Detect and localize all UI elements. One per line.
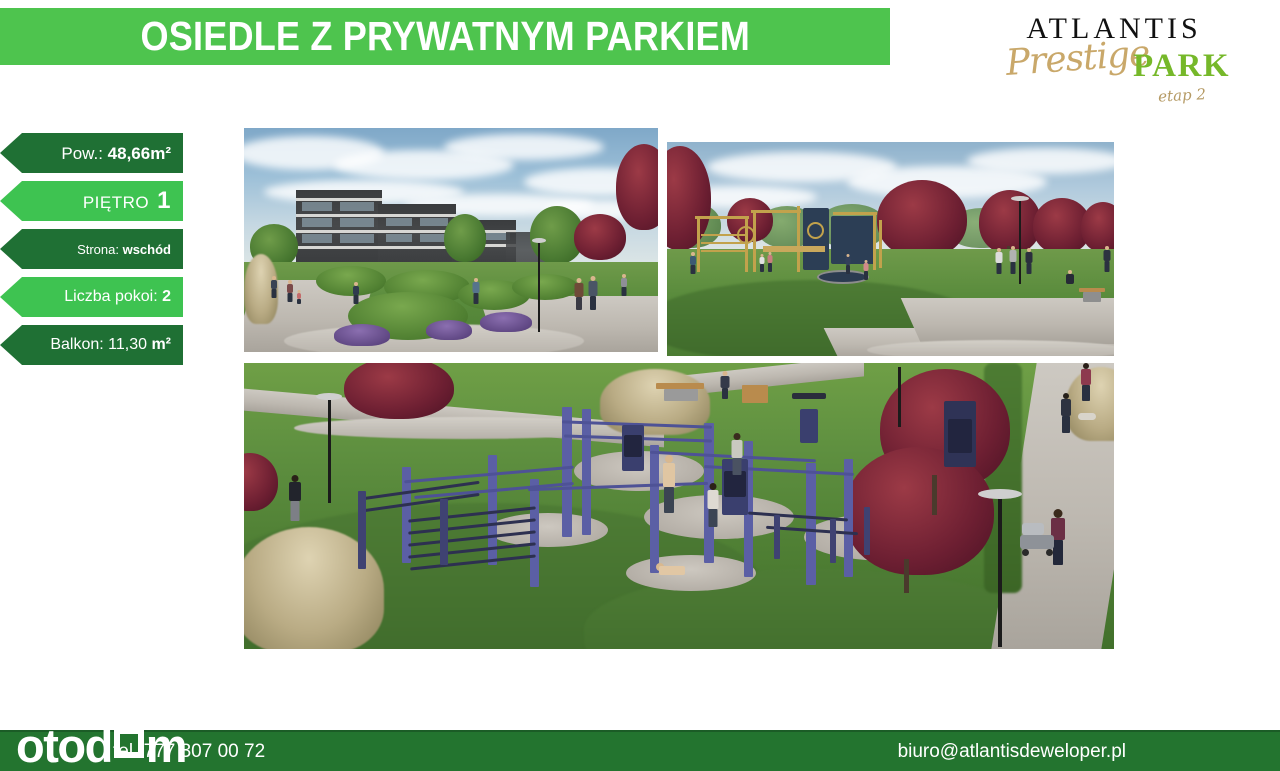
badge-side: Strona: wschód (0, 229, 183, 269)
badge-floor-text: PIĘTRO1 (83, 189, 171, 213)
badge-rooms-text: Liczba pokoi: 2 (64, 289, 171, 305)
badge-balcony-label: Balkon: 11,30 (50, 336, 151, 353)
badge-side-value: wschód (123, 242, 171, 257)
badge-floor-label: PIĘTRO (83, 193, 149, 212)
badge-balcony-text: Balkon: 11,30 m² (50, 337, 171, 353)
badge-area-label: Pow.: (61, 144, 107, 163)
brochure-page: OSIEDLE Z PRYWATNYM PARKIEM ATLANTIS Pre… (0, 0, 1280, 771)
logo-park-text: PARK (1133, 50, 1230, 83)
badge-side-text: Strona: wschód (77, 243, 171, 256)
badge-floor: PIĘTRO1 (0, 181, 183, 221)
brand-logo: ATLANTIS Prestige PARK etap 2 (992, 14, 1232, 110)
page-title: OSIEDLE Z PRYWATNYM PARKIEM (140, 13, 749, 60)
badge-area-value: 48,66m² (108, 144, 171, 163)
badge-balcony: Balkon: 11,30 m² (0, 325, 183, 365)
badge-side-label: Strona: (77, 242, 123, 257)
badge-rooms: Liczba pokoi: 2 (0, 277, 183, 317)
badge-rooms-value: 2 (162, 288, 171, 305)
header-banner: OSIEDLE Z PRYWATNYM PARKIEM (0, 8, 890, 65)
render-outdoor-gym (244, 363, 1114, 649)
badge-rooms-label: Liczba pokoi: (64, 288, 162, 305)
render-apartment-complex (244, 128, 658, 352)
badge-area-text: Pow.: 48,66m² (61, 145, 171, 162)
footer-phone[interactable]: tel. 777 307 00 72 (113, 741, 265, 763)
badge-balcony-value: m² (151, 336, 171, 353)
render-playground (667, 142, 1114, 356)
logo-prestige-text: Prestige (1005, 36, 1151, 82)
badge-area: Pow.: 48,66m² (0, 133, 183, 173)
logo-stage-text: etap 2 (992, 84, 1233, 115)
badge-floor-value: 1 (157, 187, 171, 214)
property-attributes-list: Pow.: 48,66m² PIĘTRO1 Strona: wschód Lic… (0, 133, 200, 373)
footer-email[interactable]: biuro@atlantisdeweloper.pl (898, 741, 1126, 763)
footer-contact-bar: tel. 777 307 00 72 biuro@atlantisdewelop… (0, 730, 1280, 771)
logo-middle-row: Prestige PARK (992, 46, 1232, 88)
